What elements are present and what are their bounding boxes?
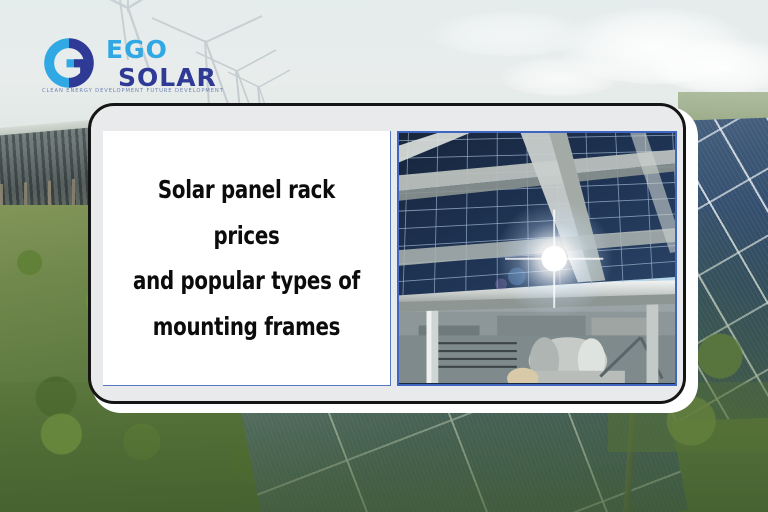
headline-line: and popular types of — [124, 258, 370, 304]
article-photo — [397, 131, 677, 386]
headline-panel: Solar panel rack prices and popular type… — [103, 131, 391, 386]
headline-line: Solar panel rack prices — [124, 167, 370, 258]
brand-tagline: CLEAN ENERGY DEVELOPMENT FUTURE DEVELOPM… — [42, 88, 224, 94]
brand-wordmark: EGO SOLAR — [106, 37, 217, 90]
headline-line: mounting frames — [124, 304, 370, 350]
brand-name-secondary: SOLAR — [118, 65, 217, 90]
thumbnail-canvas: EGO SOLAR CLEAN ENERGY DEVELOPMENT FUTUR… — [0, 0, 768, 512]
brand-logo[interactable]: EGO SOLAR CLEAN ENERGY DEVELOPMENT FUTUR… — [38, 28, 253, 98]
brand-name-primary: EGO — [106, 37, 217, 62]
solar-carport-photo — [399, 133, 675, 383]
article-headline: Solar panel rack prices and popular type… — [120, 167, 373, 349]
ego-solar-logo-icon — [38, 32, 100, 94]
article-card[interactable]: Solar panel rack prices and popular type… — [88, 103, 686, 404]
card-content: Solar panel rack prices and popular type… — [103, 131, 677, 386]
